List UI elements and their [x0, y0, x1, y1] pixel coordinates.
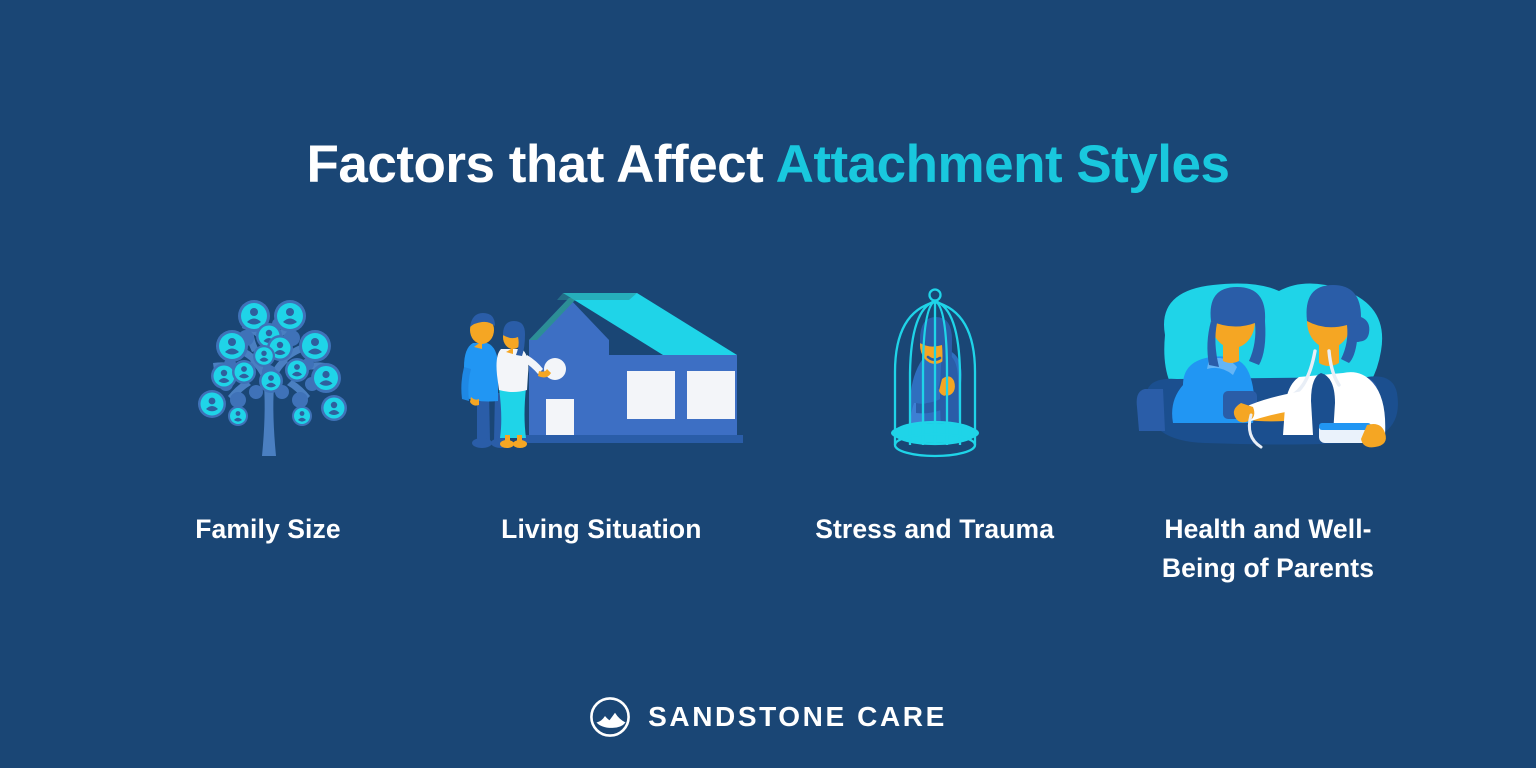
- factor-card-stress-trauma: Stress and Trauma: [785, 268, 1085, 549]
- factor-card-family-size: Family Size: [118, 268, 418, 549]
- sandstone-mountain-circle-logo: [589, 696, 631, 738]
- art-slot-stress-trauma: [785, 268, 1085, 458]
- brand-footer: SANDSTONE CARE: [0, 696, 1536, 738]
- factor-card-health-wellbeing: Health and Well-Being of Parents: [1118, 268, 1418, 588]
- factor-caption-health-wellbeing: Health and Well-Being of Parents: [1135, 510, 1400, 588]
- brand-name: SANDSTONE CARE: [648, 701, 947, 733]
- couple-and-house-illustration: [451, 283, 751, 458]
- factor-caption-living-situation: Living Situation: [501, 510, 701, 549]
- doctor-blood-pressure-illustration: [1123, 273, 1413, 458]
- page-title: Factors that Affect Attachment Styles: [0, 138, 1536, 191]
- family-tree-illustration: [168, 268, 368, 458]
- infographic-canvas: Factors that Affect Attachment Styles: [0, 0, 1536, 768]
- house-shape: [521, 293, 743, 443]
- title-container: Factors that Affect Attachment Styles: [0, 138, 1536, 216]
- factor-card-living-situation: Living Situation: [451, 268, 751, 549]
- art-slot-family-size: [118, 268, 418, 458]
- factor-caption-stress-trauma: Stress and Trauma: [815, 510, 1054, 549]
- art-slot-living-situation: [451, 268, 751, 458]
- art-slot-health-wellbeing: [1118, 268, 1418, 458]
- page-title-primary: Factors that Affect: [307, 135, 776, 194]
- factor-caption-family-size: Family Size: [195, 510, 340, 549]
- person-in-birdcage-illustration: [850, 283, 1020, 458]
- factor-cards-row: Family Size: [118, 268, 1418, 588]
- page-title-accent: Attachment Styles: [776, 135, 1230, 194]
